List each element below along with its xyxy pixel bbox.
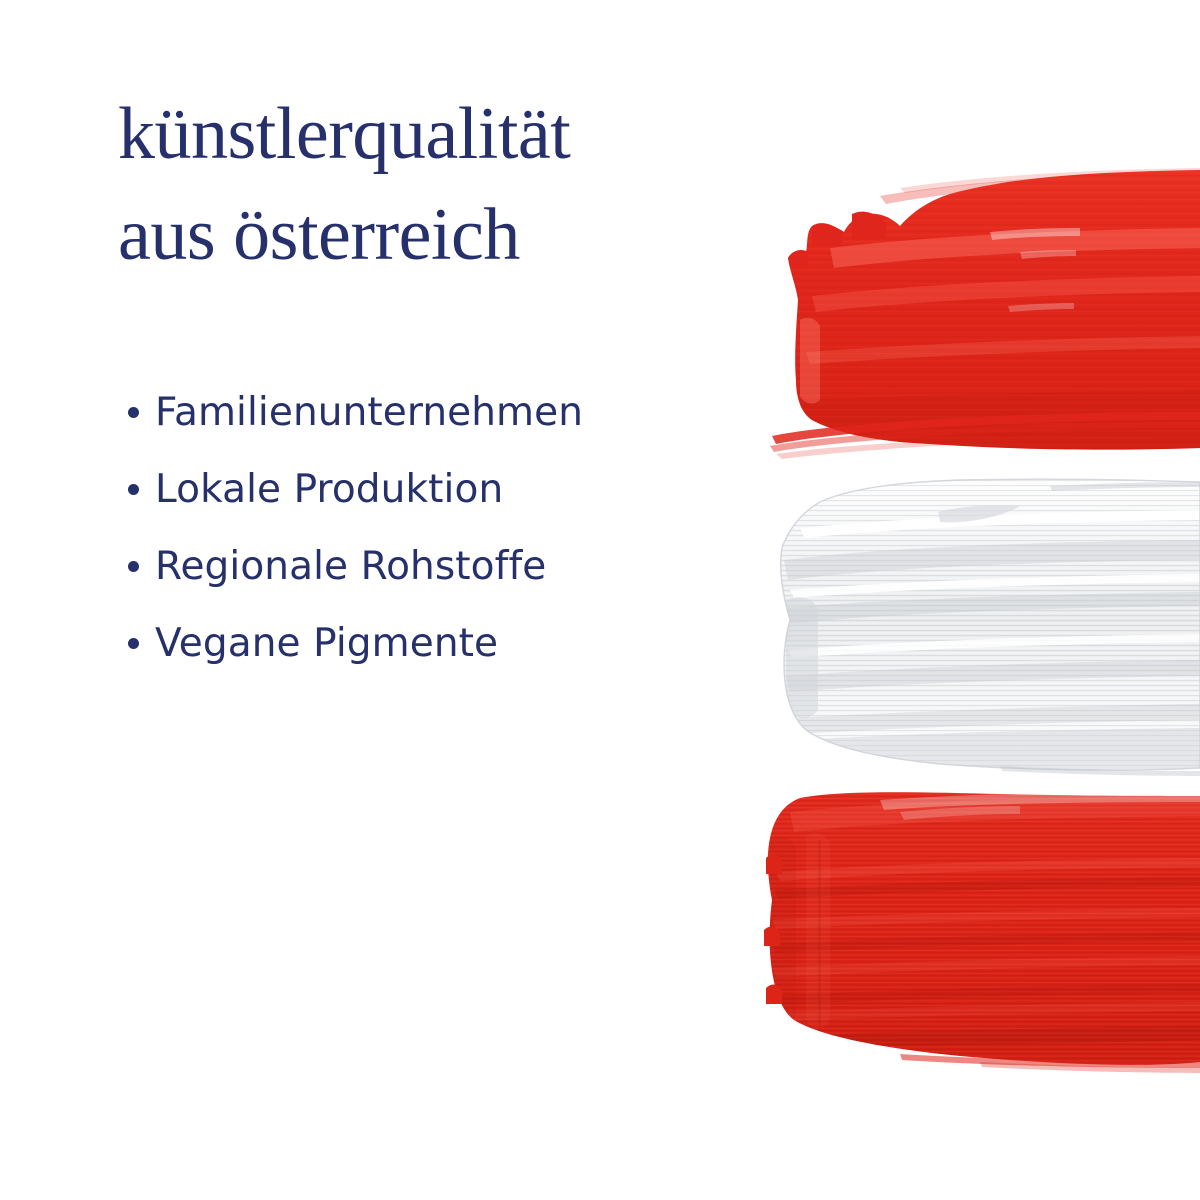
page-title: künstlerqualität aus österreich bbox=[118, 84, 758, 285]
top-red-brushstroke bbox=[760, 160, 1200, 470]
list-item: Vegane Pigmente bbox=[128, 605, 748, 682]
text-column: künstlerqualität aus österreich Familien… bbox=[118, 84, 758, 285]
bullet-dot-icon bbox=[128, 484, 139, 495]
feature-label: Lokale Produktion bbox=[155, 467, 503, 512]
list-item: Familienunternehmen bbox=[128, 374, 748, 451]
poster-canvas: künstlerqualität aus österreich Familien… bbox=[0, 0, 1200, 1200]
bullet-dot-icon bbox=[128, 561, 139, 572]
feature-label: Familienunternehmen bbox=[155, 390, 583, 435]
feature-label: Vegane Pigmente bbox=[155, 621, 498, 666]
feature-list: Familienunternehmen Lokale Produktion Re… bbox=[128, 374, 748, 682]
bottom-red-brushstroke bbox=[750, 780, 1200, 1080]
list-item: Lokale Produktion bbox=[128, 451, 748, 528]
bullet-dot-icon bbox=[128, 407, 139, 418]
middle-white-brushstroke bbox=[760, 470, 1200, 782]
list-item: Regionale Rohstoffe bbox=[128, 528, 748, 605]
bullet-dot-icon bbox=[128, 638, 139, 649]
feature-label: Regionale Rohstoffe bbox=[155, 544, 546, 589]
